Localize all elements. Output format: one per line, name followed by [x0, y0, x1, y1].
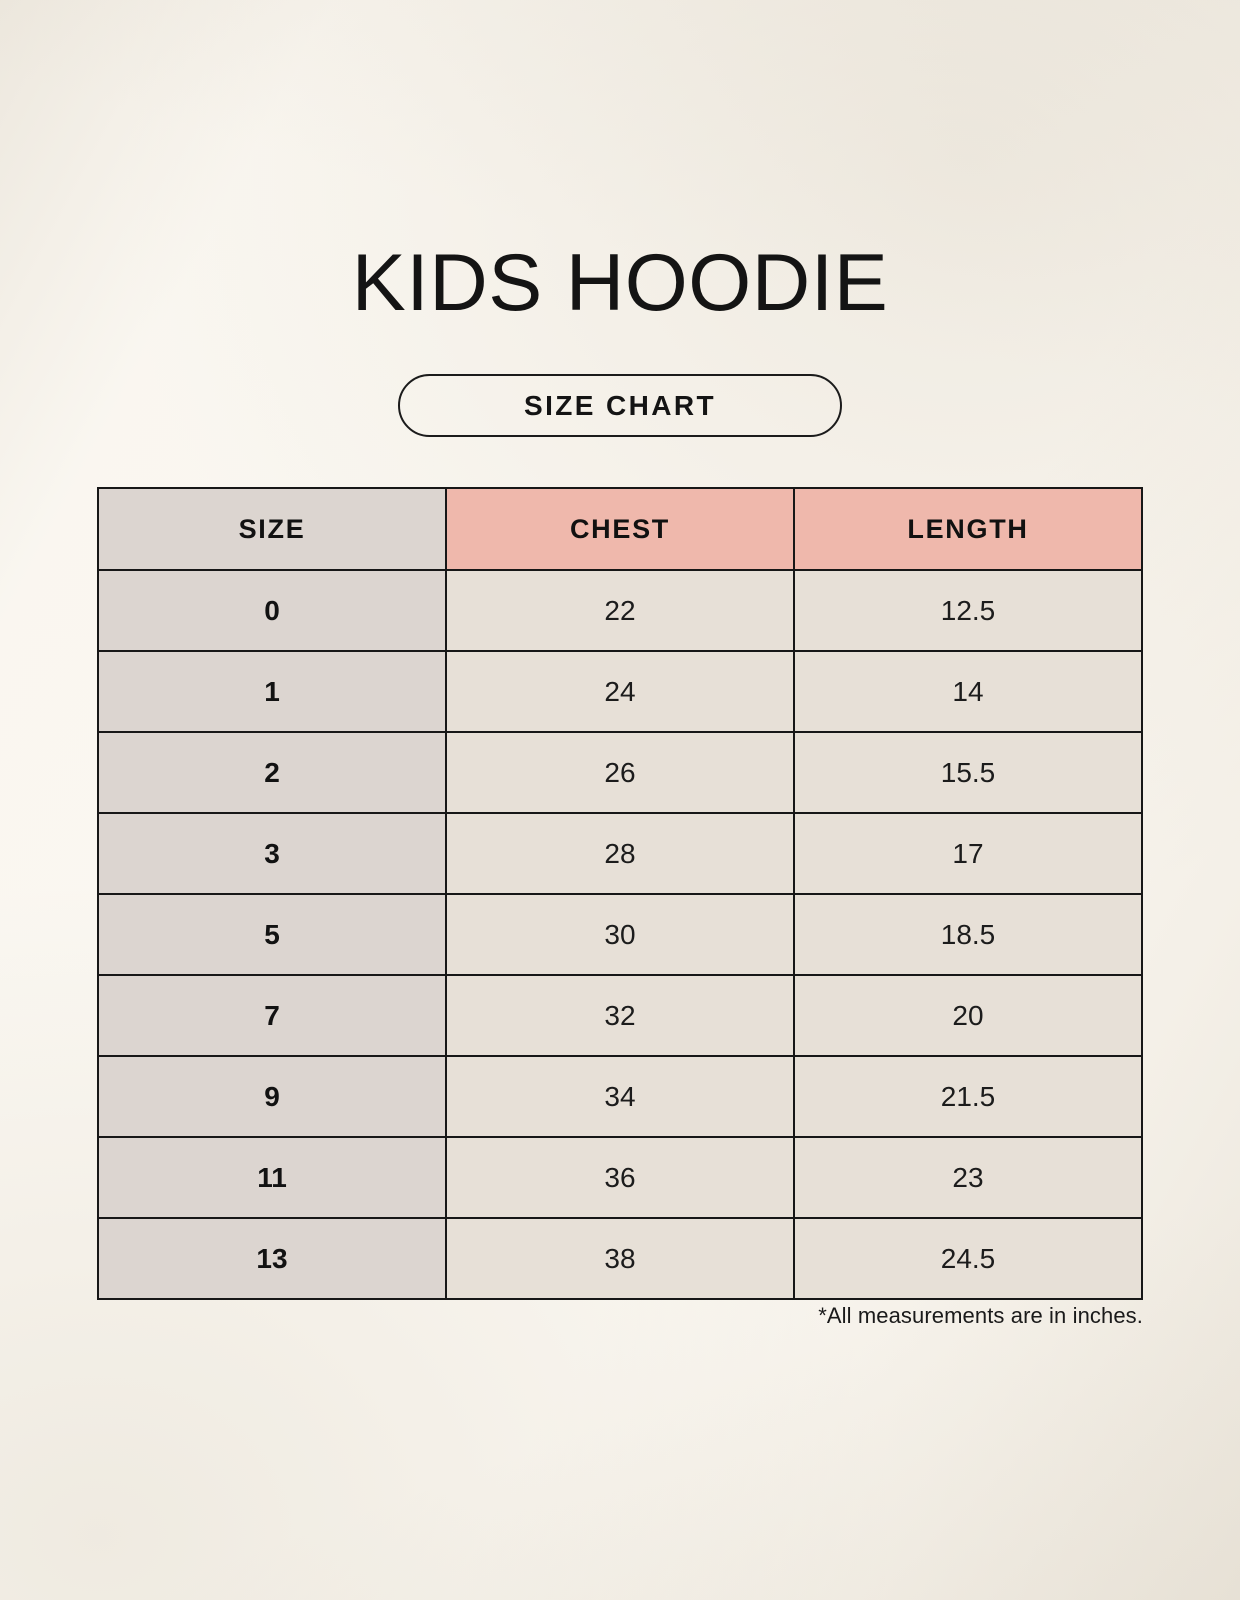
cell-length: 20 [794, 975, 1142, 1056]
cell-chest: 34 [446, 1056, 794, 1137]
column-header-size: SIZE [98, 488, 446, 570]
cell-length: 21.5 [794, 1056, 1142, 1137]
measurement-note: *All measurements are in inches. [97, 1303, 1143, 1329]
column-header-length: LENGTH [794, 488, 1142, 570]
cell-size: 7 [98, 975, 446, 1056]
cell-length: 24.5 [794, 1218, 1142, 1299]
table-header-row: SIZE CHEST LENGTH [98, 488, 1142, 570]
cell-chest: 30 [446, 894, 794, 975]
cell-length: 17 [794, 813, 1142, 894]
table-row: 12414 [98, 651, 1142, 732]
table-header: SIZE CHEST LENGTH [98, 488, 1142, 570]
table-row: 93421.5 [98, 1056, 1142, 1137]
size-chart-badge-label: SIZE CHART [524, 390, 716, 422]
cell-length: 23 [794, 1137, 1142, 1218]
cell-chest: 38 [446, 1218, 794, 1299]
table-row: 53018.5 [98, 894, 1142, 975]
size-chart-table: SIZE CHEST LENGTH 02212.51241422615.5328… [97, 487, 1143, 1300]
cell-chest: 22 [446, 570, 794, 651]
cell-length: 12.5 [794, 570, 1142, 651]
cell-chest: 26 [446, 732, 794, 813]
cell-size: 2 [98, 732, 446, 813]
column-header-chest: CHEST [446, 488, 794, 570]
cell-size: 5 [98, 894, 446, 975]
cell-size: 13 [98, 1218, 446, 1299]
table-row: 32817 [98, 813, 1142, 894]
table-row: 22615.5 [98, 732, 1142, 813]
cell-chest: 24 [446, 651, 794, 732]
table-body: 02212.51241422615.53281753018.5732209342… [98, 570, 1142, 1299]
cell-chest: 28 [446, 813, 794, 894]
cell-size: 9 [98, 1056, 446, 1137]
cell-length: 18.5 [794, 894, 1142, 975]
table-row: 02212.5 [98, 570, 1142, 651]
cell-length: 15.5 [794, 732, 1142, 813]
cell-chest: 36 [446, 1137, 794, 1218]
cell-size: 0 [98, 570, 446, 651]
cell-chest: 32 [446, 975, 794, 1056]
size-chart-badge: SIZE CHART [398, 374, 842, 437]
cell-size: 11 [98, 1137, 446, 1218]
cell-size: 1 [98, 651, 446, 732]
cell-length: 14 [794, 651, 1142, 732]
cell-size: 3 [98, 813, 446, 894]
page-title: KIDS HOODIE [0, 243, 1240, 324]
table-row: 73220 [98, 975, 1142, 1056]
table-row: 133824.5 [98, 1218, 1142, 1299]
table-row: 113623 [98, 1137, 1142, 1218]
badge-container: SIZE CHART [0, 374, 1240, 437]
